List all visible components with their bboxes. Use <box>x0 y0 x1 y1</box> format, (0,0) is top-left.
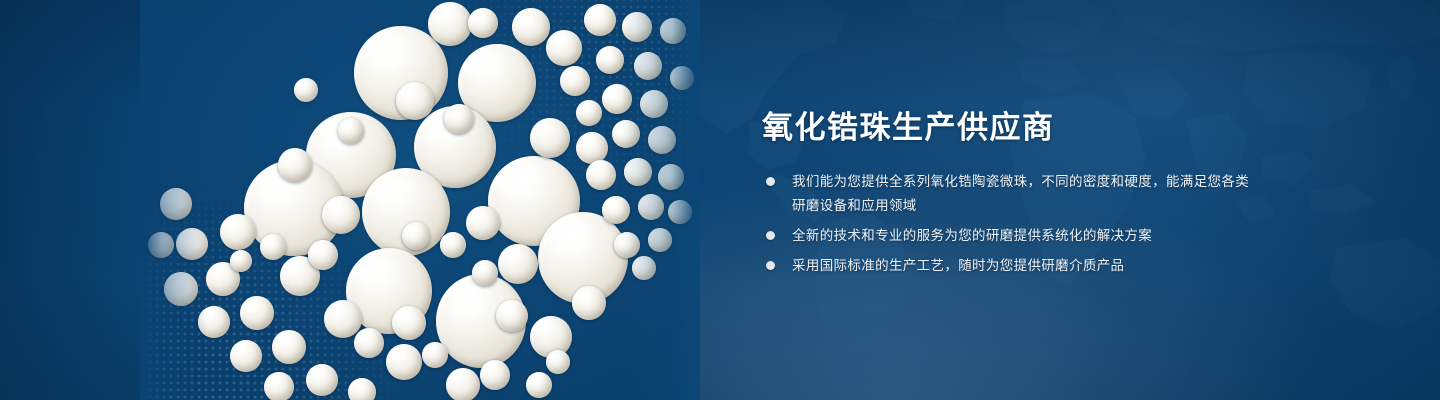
bead <box>260 234 286 260</box>
bead <box>396 82 434 120</box>
bead <box>444 104 474 134</box>
hero-banner: 氧化锆珠生产供应商 我们能为您提供全系列氧化锆陶瓷微珠，不同的密度和硬度，能满足… <box>0 0 1440 400</box>
bead <box>466 206 500 240</box>
bead <box>572 286 606 320</box>
bead <box>230 250 252 272</box>
bead <box>614 232 640 258</box>
bead <box>648 228 672 252</box>
bead <box>624 158 652 186</box>
bead <box>402 222 430 250</box>
bead <box>164 272 198 306</box>
bead <box>586 160 616 190</box>
bead <box>498 244 538 284</box>
bead <box>530 118 570 158</box>
feature-text: 我们能为您提供全系列氧化锆陶瓷微珠，不同的密度和硬度，能满足您各类研磨设备和应用… <box>792 174 1249 213</box>
bead <box>480 360 510 390</box>
bead <box>526 372 552 398</box>
bead <box>472 260 498 286</box>
page-title: 氧化锆珠生产供应商 <box>762 108 1262 148</box>
list-item: 全新的技术和专业的服务为您的研磨提供系统化的解决方案 <box>762 224 1262 248</box>
bead <box>658 164 684 190</box>
bead <box>392 306 426 340</box>
bead <box>294 78 318 102</box>
bead <box>640 90 668 118</box>
bead <box>176 228 208 260</box>
bead <box>648 126 676 154</box>
bead <box>602 84 632 114</box>
feature-list: 我们能为您提供全系列氧化锆陶瓷微珠，不同的密度和硬度，能满足您各类研磨设备和应用… <box>762 170 1262 278</box>
bead <box>638 194 664 220</box>
bead <box>428 2 472 46</box>
bead <box>230 340 262 372</box>
bead <box>440 232 466 258</box>
bead <box>622 12 652 42</box>
bead <box>220 214 256 250</box>
banner-copy: 氧化锆珠生产供应商 我们能为您提供全系列氧化锆陶瓷微珠，不同的密度和硬度，能满足… <box>762 108 1262 284</box>
bullet-dot-icon <box>766 177 775 186</box>
bead <box>546 30 582 66</box>
bead <box>160 188 192 220</box>
bead <box>148 232 174 258</box>
bead <box>668 200 692 224</box>
bead <box>670 66 694 90</box>
bead <box>198 306 230 338</box>
bead <box>584 4 616 36</box>
bead <box>386 344 422 380</box>
list-item: 我们能为您提供全系列氧化锆陶瓷微珠，不同的密度和硬度，能满足您各类研磨设备和应用… <box>762 170 1262 218</box>
bead <box>322 196 360 234</box>
bead <box>660 18 686 44</box>
bead <box>632 256 656 280</box>
bullet-dot-icon <box>766 261 775 270</box>
bead <box>468 8 498 38</box>
bead <box>596 46 624 74</box>
bead <box>512 8 550 46</box>
bead <box>264 372 294 400</box>
feature-text: 全新的技术和专业的服务为您的研磨提供系统化的解决方案 <box>792 228 1152 243</box>
bead <box>546 350 570 374</box>
bead <box>348 378 376 400</box>
zirconia-beads-photo <box>140 0 700 400</box>
bead <box>446 368 480 400</box>
bead <box>324 300 362 338</box>
bead <box>612 120 640 148</box>
bead <box>308 240 338 270</box>
bead <box>602 196 630 224</box>
bead <box>306 364 338 396</box>
bullet-dot-icon <box>766 231 775 240</box>
bead <box>560 66 590 96</box>
bead <box>354 328 384 358</box>
bead <box>240 296 274 330</box>
bead <box>278 148 312 182</box>
bead <box>634 52 662 80</box>
bead <box>576 100 602 126</box>
feature-text: 采用国际标准的生产工艺，随时为您提供研磨介质产品 <box>792 258 1124 273</box>
bead <box>496 300 528 332</box>
bead <box>272 330 306 364</box>
bead <box>422 342 448 368</box>
bead <box>338 118 364 144</box>
list-item: 采用国际标准的生产工艺，随时为您提供研磨介质产品 <box>762 254 1262 278</box>
